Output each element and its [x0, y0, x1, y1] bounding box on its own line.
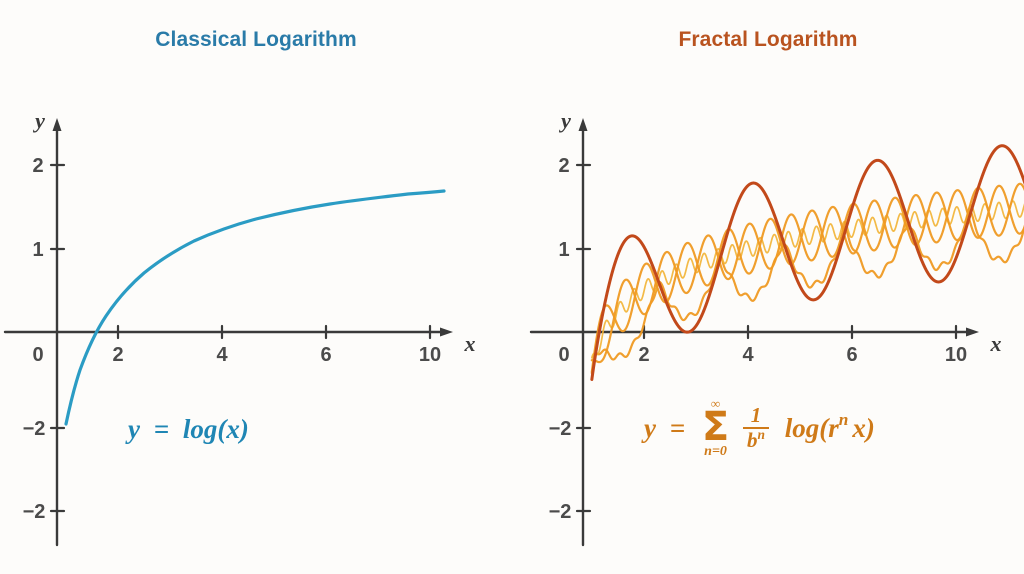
sum-upper-limit: ∞ [711, 397, 720, 410]
x-tick-label-2-right: 2 [638, 344, 649, 366]
x-tick-label-2-left: 2 [112, 344, 123, 366]
y-tick-label-1-left: 1 [32, 239, 43, 261]
x-axis-arrow-left [440, 328, 453, 337]
x-axis-arrow-right [966, 328, 979, 337]
fraction-one-over-b-n: 1 bn [743, 405, 769, 452]
log-variable-x: x [852, 413, 866, 444]
fraction-denominator-exponent: n [757, 427, 764, 442]
summation-symbol: ∞ Σ n=0 [702, 397, 729, 459]
log-base-r: r [828, 413, 839, 444]
plot-fractal: 0 2 4 6 10 2 1 −2 −2 y x [512, 0, 1024, 574]
figure-root: Classical Logarithm 0 2 4 6 10 2 [0, 0, 1024, 574]
formula-classical: y = log(x) [128, 412, 249, 445]
x-tick-label-0-right: 0 [558, 344, 569, 366]
panel-classical: Classical Logarithm 0 2 4 6 10 2 [0, 0, 512, 574]
x-tick-label-10-right: 10 [945, 344, 967, 366]
x-tick-label-4-right: 4 [742, 344, 754, 366]
fractal-layer-2 [592, 175, 1024, 362]
x-tick-label-10-left: 10 [419, 344, 441, 366]
y-tick-label-2-left: 2 [32, 155, 43, 177]
fraction-denominator: bn [744, 429, 768, 451]
sum-lower-limit: n=0 [704, 445, 727, 459]
panel-fractal: Fractal Logarithm 0 2 4 6 10 2 [512, 0, 1024, 574]
y-axis-arrow-left [53, 118, 62, 131]
y-tick-label-minus2-upper-right: −2 [549, 418, 572, 440]
x-axis-label-right: x [990, 331, 1002, 356]
fraction-numerator: 1 [748, 405, 765, 427]
y-tick-label-1-right: 1 [558, 239, 569, 261]
y-tick-label-minus2-lower-left: −2 [23, 501, 46, 523]
y-tick-label-2-right: 2 [558, 155, 569, 177]
y-axis-label-left: y [32, 108, 45, 133]
formula-lhs-right: y [644, 413, 656, 444]
formula-equals-left: = [154, 414, 169, 445]
x-tick-label-0-left: 0 [32, 344, 43, 366]
formula-lhs-left: y [128, 414, 140, 445]
x-tick-label-6-right: 6 [846, 344, 857, 366]
formula-fractal: y = ∞ Σ n=0 1 bn log(rnx) [644, 398, 875, 460]
y-axis-label-right: y [558, 108, 571, 133]
plot-classical: 0 2 4 6 10 2 1 −2 −2 y x [0, 0, 512, 574]
classical-log-curve [66, 191, 444, 424]
x-axis-label-left: x [464, 331, 476, 356]
y-axis-arrow-right [579, 118, 588, 131]
y-tick-label-minus2-upper-left: −2 [23, 418, 46, 440]
x-tick-label-6-left: 6 [320, 344, 331, 366]
sigma-glyph: Σ [702, 409, 729, 446]
log-close-paren: ) [866, 413, 875, 444]
formula-rhs-left: log(x) [183, 414, 249, 445]
fraction-denominator-base: b [747, 428, 758, 452]
fractal-curve-group [592, 135, 1024, 380]
y-tick-label-minus2-lower-right: −2 [549, 501, 572, 523]
log-open-paren: log( [785, 413, 829, 444]
log-exponent-n: n [839, 410, 849, 429]
x-tick-label-4-left: 4 [216, 344, 228, 366]
formula-equals-right: = [670, 413, 685, 444]
